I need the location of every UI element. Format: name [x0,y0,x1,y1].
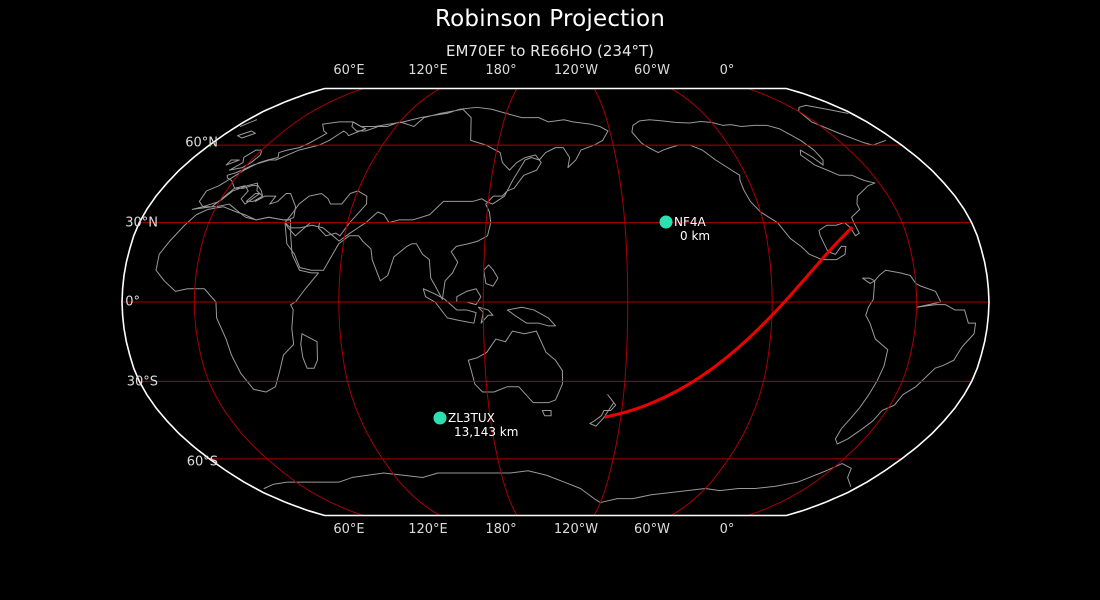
route-path [605,227,853,417]
marker-label-NF4A: NF4A0 km [674,215,710,243]
lon-tick-bot-1: 120°E [408,522,448,537]
coastline-segment [192,122,366,220]
coastline-segment [799,105,873,145]
coastline-segment [873,140,886,145]
lon-tick-bot-2: 180° [485,522,516,537]
lat-tick-0: 60°N [158,136,218,151]
lon-tick-top-5: 0° [720,63,735,78]
lat-tick-3: 30°S [98,375,158,390]
lon-tick-bot-4: 60°W [634,522,670,537]
marker-ZL3TUX[interactable] [434,412,447,425]
lat-tick-2: 0° [80,295,140,310]
figure-canvas: Robinson Projection EM70EF to RE66HO (23… [0,0,1100,600]
coastline-segment [484,265,498,286]
marker-distance: 0 km [680,229,710,243]
marker-label-ZL3TUX: ZL3TUX13,143 km [448,411,518,439]
coastline-segment [478,307,492,323]
great-circle-route [605,227,853,417]
lon-tick-top-3: 120°W [554,63,598,78]
coastline-segment [507,307,555,326]
lat-tick-1: 30°N [98,216,158,231]
coastline-segment [835,270,975,444]
coastline-segment [226,160,239,165]
marker-callsign: NF4A [674,215,710,229]
coastline-segment [238,131,256,138]
coastline-segment [468,331,562,402]
coastline-segment [264,471,600,503]
lon-tick-bot-0: 60°E [333,522,364,537]
lat-tick-4: 60°S [158,455,218,470]
coastline-segment [285,191,367,236]
marker-NF4A[interactable] [660,216,673,229]
coastline-segment [863,278,875,283]
lon-tick-top-4: 60°W [634,63,670,78]
robinson-map [0,0,1100,600]
endpoint-markers [434,216,673,425]
coastline-segment [542,410,551,415]
lon-tick-bot-5: 0° [720,522,735,537]
coastline-segment [423,289,476,323]
coastlines-layer [156,105,976,502]
coastline-segment [590,395,616,426]
marker-distance: 13,143 km [454,425,518,439]
lon-tick-top-0: 60°E [333,63,364,78]
lon-tick-top-1: 120°E [408,63,448,78]
marker-callsign: ZL3TUX [448,411,518,425]
lon-tick-top-2: 180° [485,63,516,78]
coastline-segment [301,334,318,368]
coastline-segment [285,107,608,299]
lon-tick-bot-3: 120°W [554,522,598,537]
